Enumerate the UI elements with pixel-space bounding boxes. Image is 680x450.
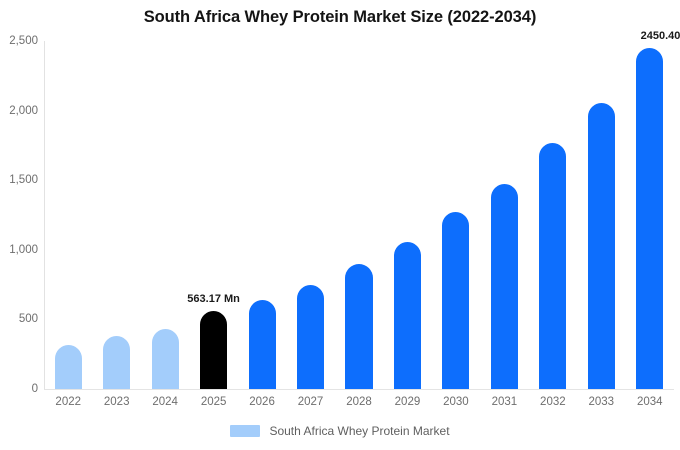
bar-value-label-2034: 2450.40 Mn bbox=[641, 30, 680, 42]
x-axis-tick-label-2029: 2029 bbox=[395, 396, 421, 408]
x-axis-tick-label-2028: 2028 bbox=[346, 396, 372, 408]
bar-slot bbox=[297, 41, 324, 389]
bars-group: 563.17 Mn2450.40 Mn bbox=[44, 41, 674, 389]
bar-slot: 2450.40 Mn bbox=[636, 41, 663, 389]
y-axis-tick-label: 500 bbox=[0, 313, 38, 325]
y-axis-tick-label: 1,000 bbox=[0, 244, 38, 256]
bar-2032[interactable] bbox=[539, 143, 566, 389]
bar-value-label-2025: 563.17 Mn bbox=[187, 293, 240, 305]
bar-2028[interactable] bbox=[345, 264, 372, 389]
chart-title: South Africa Whey Protein Market Size (2… bbox=[0, 8, 680, 27]
bar-slot bbox=[55, 41, 82, 389]
bar-2022[interactable] bbox=[55, 345, 82, 389]
x-axis-tick-label-2027: 2027 bbox=[298, 396, 324, 408]
bar-2027[interactable] bbox=[297, 285, 324, 389]
y-axis-tick-label: 2,500 bbox=[0, 35, 38, 47]
bar-2023[interactable] bbox=[103, 336, 130, 389]
bar-2030[interactable] bbox=[442, 212, 469, 389]
x-axis-tick-label-2023: 2023 bbox=[104, 396, 130, 408]
bar-slot bbox=[345, 41, 372, 389]
bar-2026[interactable] bbox=[249, 300, 276, 389]
x-axis-tick-label-2032: 2032 bbox=[540, 396, 566, 408]
bar-slot bbox=[103, 41, 130, 389]
bar-2025[interactable] bbox=[200, 311, 227, 389]
x-axis-tick-label-2034: 2034 bbox=[637, 396, 663, 408]
x-axis-tick-label-2026: 2026 bbox=[249, 396, 275, 408]
bar-2024[interactable] bbox=[152, 329, 179, 389]
x-axis-tick-label-2033: 2033 bbox=[589, 396, 615, 408]
plot-area: 563.17 Mn2450.40 Mn bbox=[44, 41, 674, 389]
x-axis-line bbox=[44, 389, 674, 390]
bar-2031[interactable] bbox=[491, 184, 518, 389]
bar-slot bbox=[152, 41, 179, 389]
bar-slot bbox=[588, 41, 615, 389]
bar-slot bbox=[491, 41, 518, 389]
x-axis-tick-label-2022: 2022 bbox=[55, 396, 81, 408]
bar-slot bbox=[394, 41, 421, 389]
bar-slot bbox=[539, 41, 566, 389]
bar-slot bbox=[249, 41, 276, 389]
x-axis-tick-label-2030: 2030 bbox=[443, 396, 469, 408]
legend-swatch bbox=[230, 425, 260, 437]
legend-label[interactable]: South Africa Whey Protein Market bbox=[269, 424, 449, 438]
bar-slot: 563.17 Mn bbox=[200, 41, 227, 389]
bar-2029[interactable] bbox=[394, 242, 421, 389]
y-axis-tick-label: 1,500 bbox=[0, 174, 38, 186]
bar-slot bbox=[442, 41, 469, 389]
x-axis-tick-label-2025: 2025 bbox=[201, 396, 227, 408]
bar-chart: South Africa Whey Protein Market Size (2… bbox=[0, 0, 680, 450]
bar-2034[interactable] bbox=[636, 48, 663, 389]
x-axis-tick-label-2031: 2031 bbox=[492, 396, 518, 408]
chart-legend: South Africa Whey Protein Market bbox=[0, 424, 680, 438]
y-axis-tick-label: 0 bbox=[0, 383, 38, 395]
x-axis-tick-label-2024: 2024 bbox=[152, 396, 178, 408]
y-axis-tick-label: 2,000 bbox=[0, 105, 38, 117]
bar-2033[interactable] bbox=[588, 103, 615, 389]
